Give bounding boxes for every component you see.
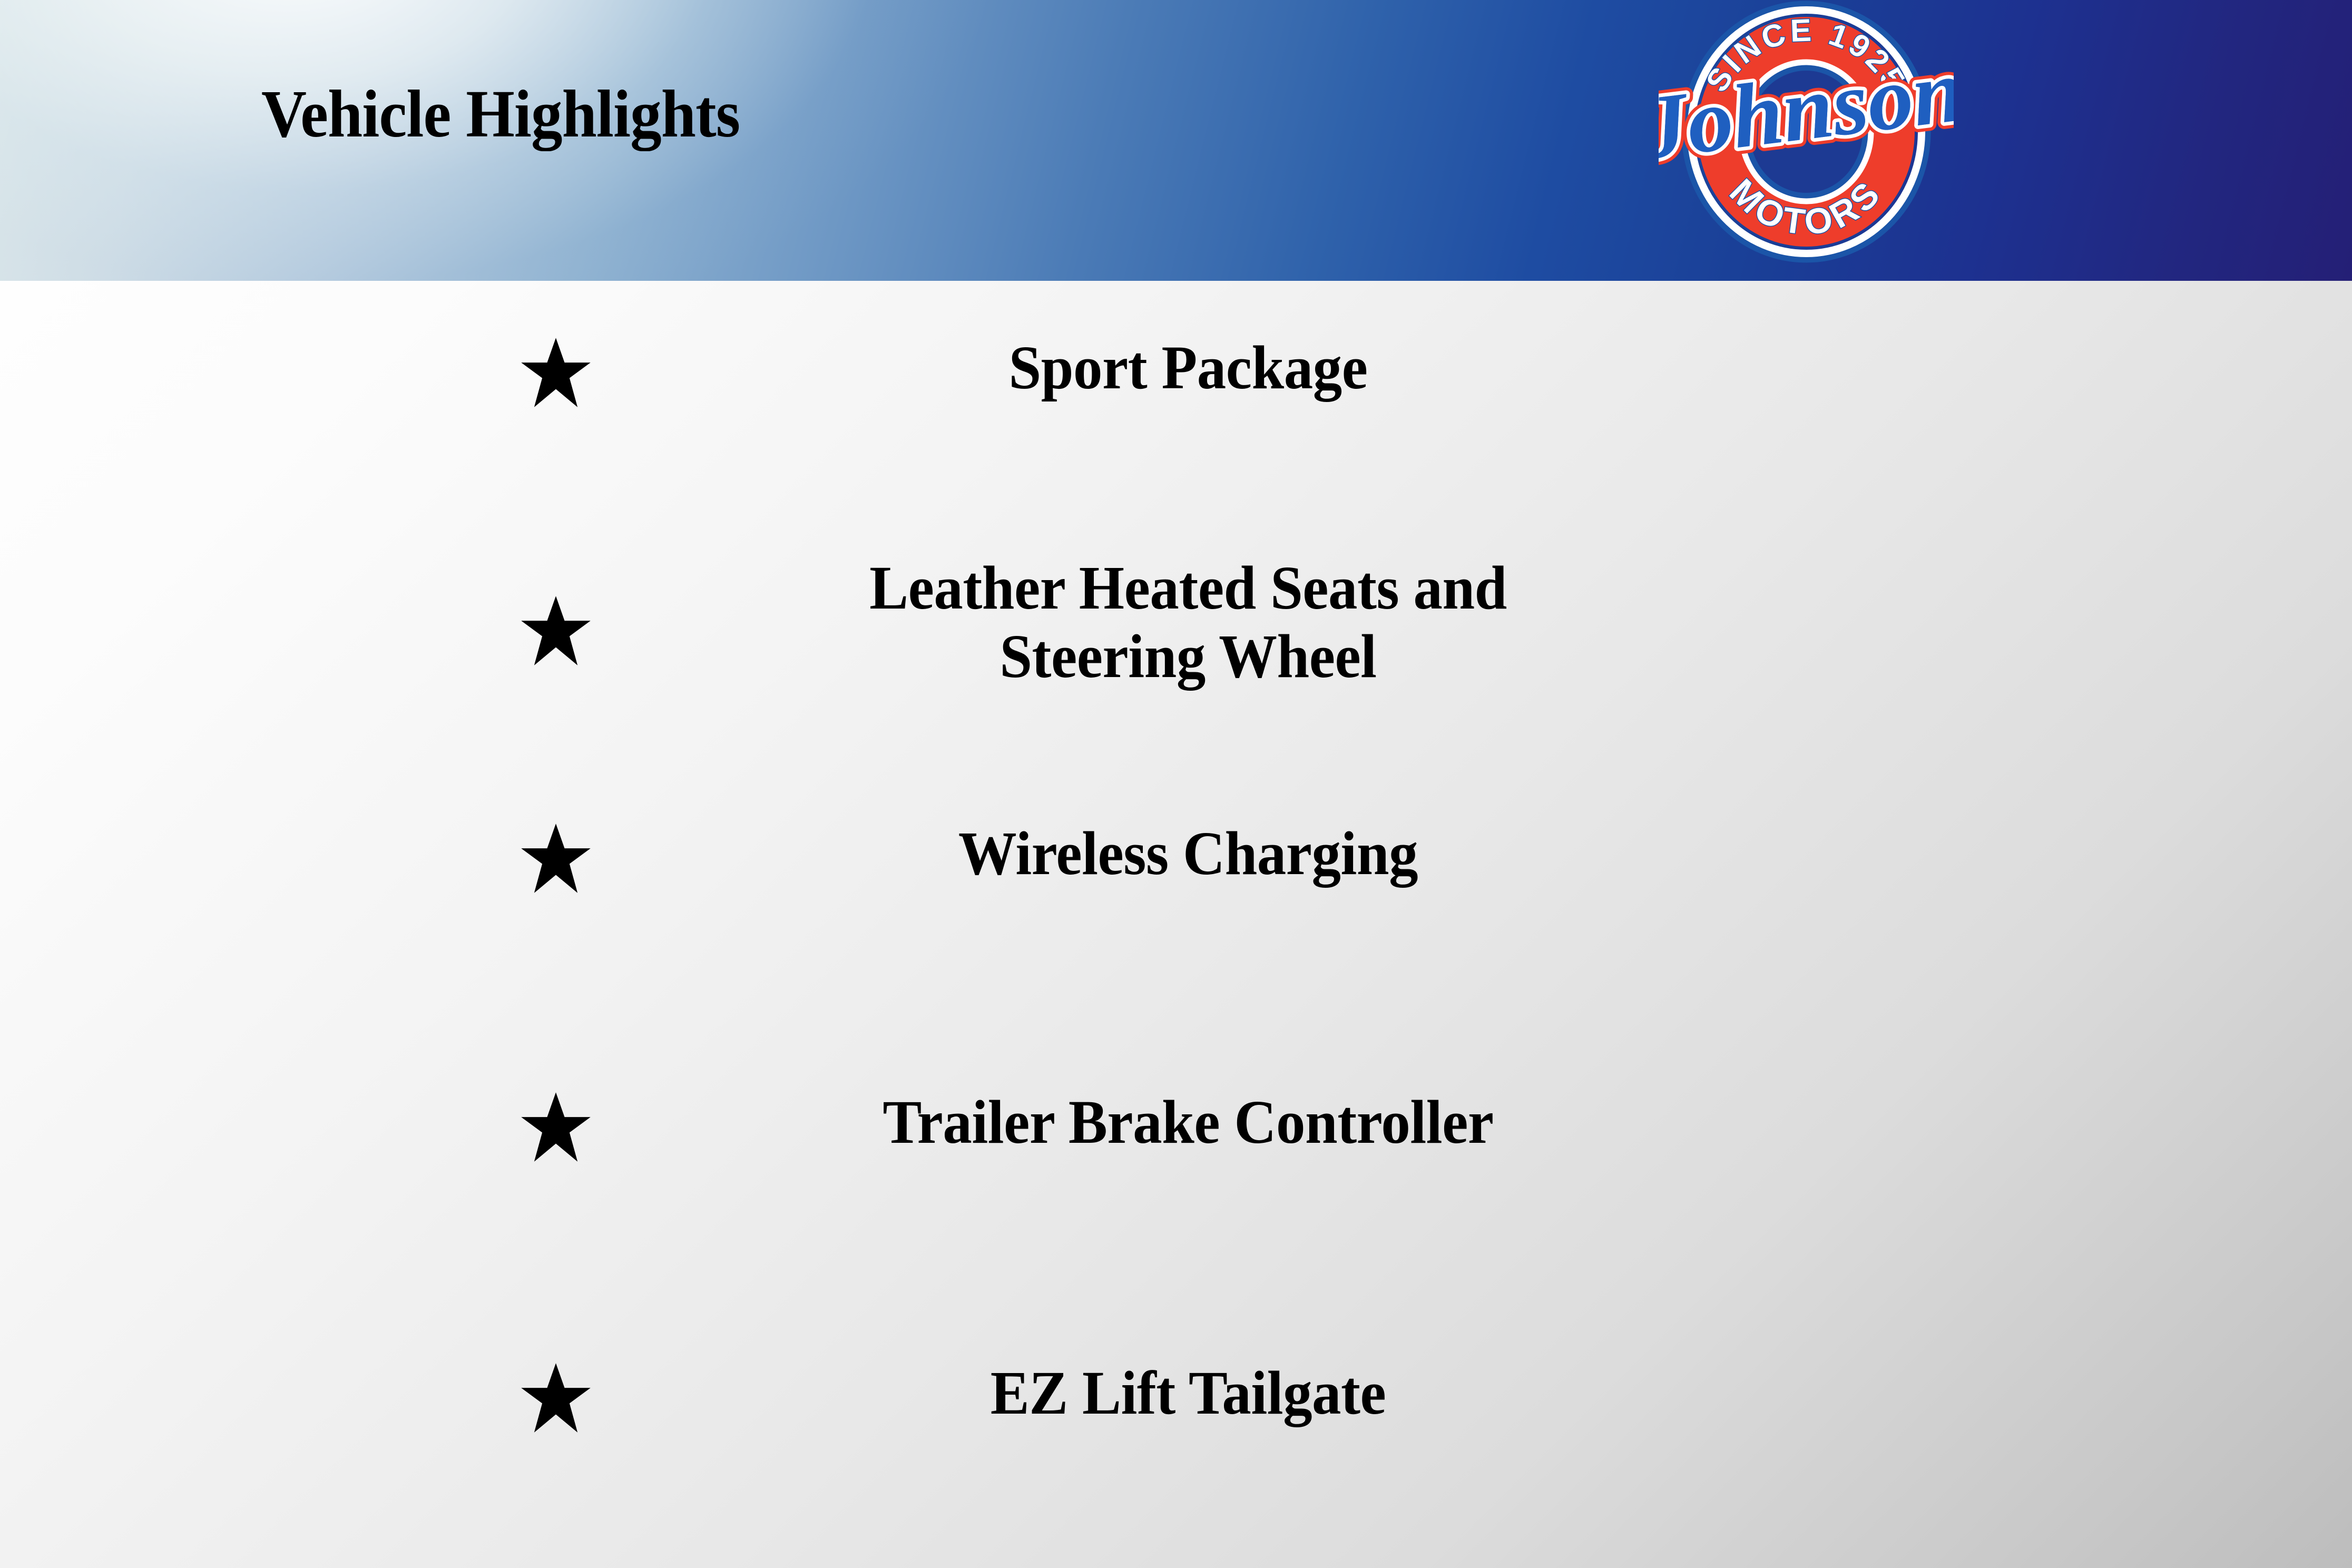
list-item-label: EZ Lift Tailgate [656, 1359, 1721, 1427]
list-item-label: Sport Package [656, 334, 1721, 402]
star-icon [519, 1086, 593, 1168]
star-icon [519, 817, 593, 899]
slide-vehicle-highlights: Vehicle Highlights [0, 0, 2352, 1568]
star-icon [519, 590, 593, 672]
page-title: Vehicle Highlights [261, 80, 740, 148]
slide-header-bar: Vehicle Highlights [0, 0, 2352, 281]
star-icon [519, 331, 593, 414]
johnson-motors-logo: SINCE 1925 MOTORS Johnson Johnson Johnso… [1659, 0, 1954, 276]
star-icon [519, 1357, 593, 1439]
list-item-label: Wireless Charging [656, 819, 1721, 888]
vehicle-highlights-list: Sport Package Leather Heated Seats andSt… [0, 281, 2352, 1568]
list-item-label: Leather Heated Seats andSteering Wheel [656, 554, 1721, 691]
list-item-label: Trailer Brake Controller [656, 1088, 1721, 1157]
